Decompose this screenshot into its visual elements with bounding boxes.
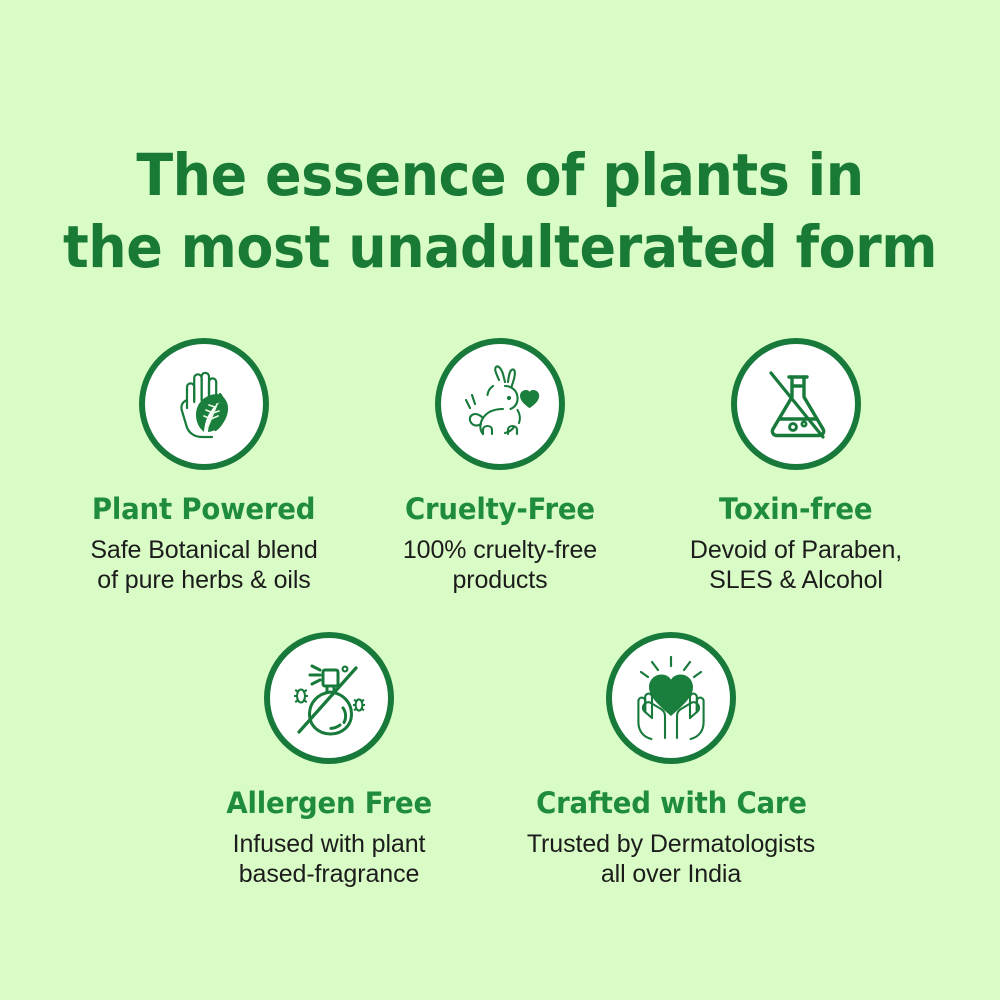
feature-plant-powered: Plant Powered Safe Botanical blend of pu… (56, 338, 352, 595)
feature-description: Devoid of Paraben, SLES & Alcohol (690, 535, 902, 595)
feature-allergen-free: Allergen Free Infused with plant based-f… (158, 632, 500, 889)
feature-icon-badge (139, 338, 269, 470)
feature-title: Allergen Free (226, 786, 432, 820)
feature-icon-badge (264, 632, 394, 764)
feature-desc-line-2: SLES & Alcohol (690, 565, 902, 595)
rabbit-heart-icon (450, 356, 550, 452)
feature-desc-line-1: Safe Botanical blend (90, 535, 317, 565)
feature-desc-line-2: all over India (527, 859, 815, 889)
promo-banner: The essence of plants in the most unadul… (0, 0, 1000, 1000)
feature-desc-line-1: Devoid of Paraben, (690, 535, 902, 565)
feature-description: 100% cruelty-free products (403, 535, 597, 595)
feature-crafted-with-care: Crafted with Care Trusted by Dermatologi… (500, 632, 842, 889)
page-title-line-2: the most unadulterated form (35, 211, 965, 283)
feature-row-bottom: Allergen Free Infused with plant based-f… (0, 632, 1000, 889)
hands-holding-heart-icon (621, 650, 721, 746)
feature-row-top: Plant Powered Safe Botanical blend of pu… (0, 338, 1000, 595)
no-chemical-flask-icon (749, 357, 843, 451)
feature-title: Crafted with Care (536, 786, 807, 820)
feature-title: Cruelty-Free (405, 492, 595, 526)
feature-description: Trusted by Dermatologists all over India (527, 829, 815, 889)
hand-holding-leaf-icon (156, 356, 252, 452)
feature-desc-line-2: based-fragrance (233, 859, 426, 889)
feature-icon-badge (731, 338, 861, 470)
no-fragrance-bottle-icon (279, 648, 379, 748)
feature-desc-line-2: of pure herbs & oils (90, 565, 317, 595)
feature-desc-line-1: 100% cruelty-free (403, 535, 597, 565)
feature-desc-line-1: Trusted by Dermatologists (527, 829, 815, 859)
feature-desc-line-1: Infused with plant (233, 829, 426, 859)
feature-description: Safe Botanical blend of pure herbs & oil… (90, 535, 317, 595)
feature-desc-line-2: products (403, 565, 597, 595)
feature-icon-badge (606, 632, 736, 764)
feature-description: Infused with plant based-fragrance (233, 829, 426, 889)
feature-title: Toxin-free (719, 492, 872, 526)
page-title-line-1: The essence of plants in (35, 139, 965, 211)
page-title: The essence of plants in the most unadul… (35, 139, 965, 283)
feature-cruelty-free: Cruelty-Free 100% cruelty-free products (352, 338, 648, 595)
feature-title: Plant Powered (92, 492, 315, 526)
feature-icon-badge (435, 338, 565, 470)
feature-toxin-free: Toxin-free Devoid of Paraben, SLES & Alc… (648, 338, 944, 595)
